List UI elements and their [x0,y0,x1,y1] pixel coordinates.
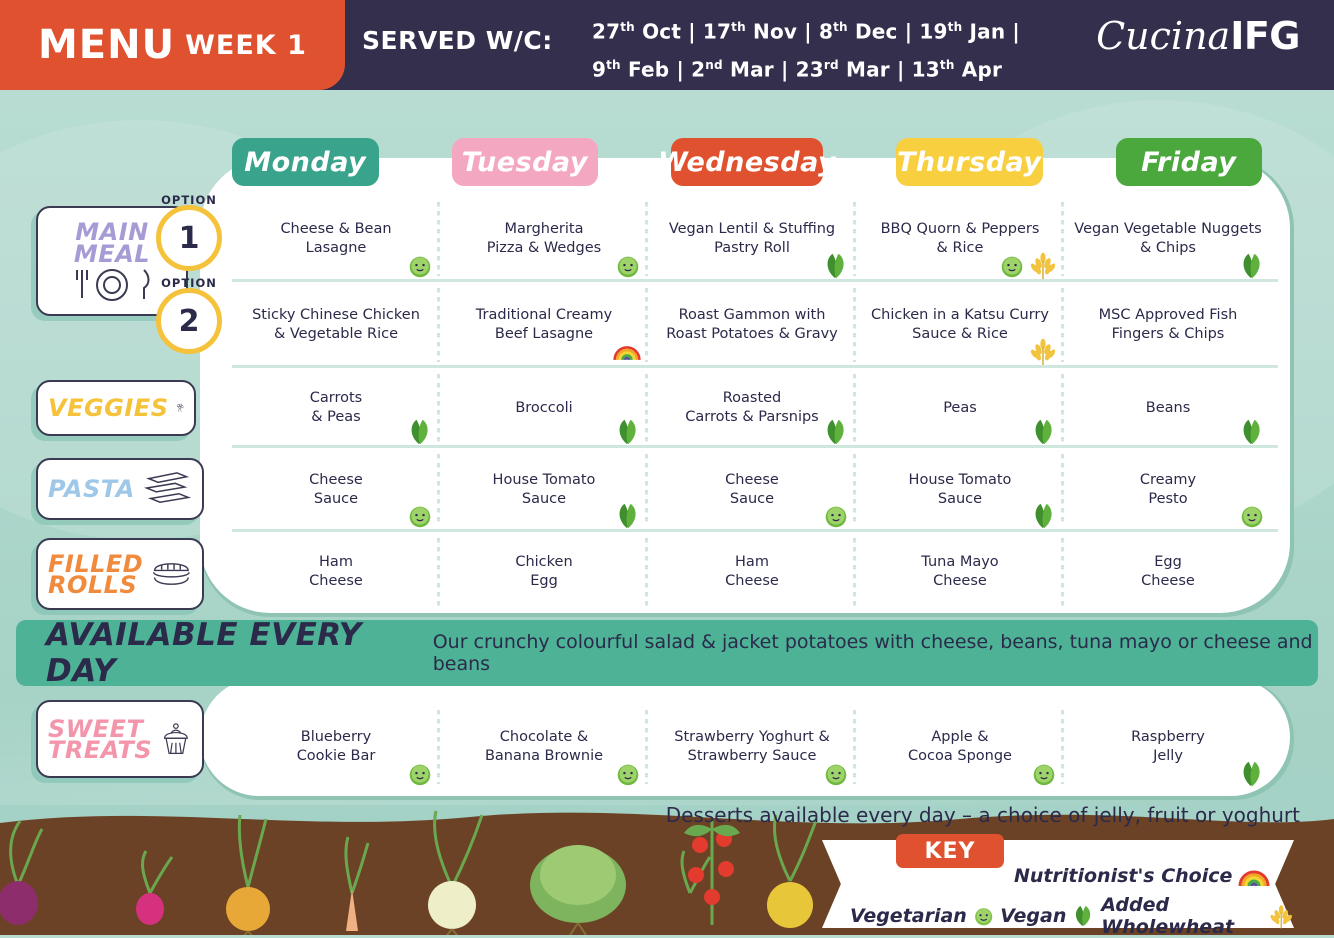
menu-cell: Sticky Chinese Chicken & Vegetable Rice [232,282,440,368]
vegetarian-icon [822,760,850,788]
diet-icons [1030,760,1058,788]
menu-item-text: Tuna Mayo Cheese [921,553,998,591]
menu-cell: Cheese Sauce [232,448,440,532]
menu-cell: Traditional Creamy Beef Lasagne [440,282,648,368]
rainbow-icon [612,336,642,366]
day-header-row: MondayTuesdayWednesdayThursdayFriday [232,138,1262,186]
menu-cell: Beans [1064,368,1272,448]
menu-item-text: Beans [1146,399,1191,418]
option-2-badge: OPTION 2 [156,288,222,354]
menu-cell: BBQ Quorn & Peppers & Rice [856,196,1064,282]
row-label-main-meal-line2: MEAL [74,242,150,266]
menu-word: MENU [38,22,175,68]
available-every-day-title: AVAILABLE EVERY DAY [46,620,419,686]
menu-cell: Vegan Vegetable Nuggets & Chips [1064,196,1272,282]
wheat-icon [1028,336,1058,366]
menu-item-text: Vegan Vegetable Nuggets & Chips [1074,220,1261,258]
week-word: WEEK 1 [185,30,307,61]
vegan-leaf-icon [1030,502,1058,530]
diet-icons [1030,502,1058,530]
menu-item-text: Cheese Sauce [309,471,363,509]
menu-item-text: Apple & Cocoa Sponge [908,728,1012,766]
vegetarian-icon [406,502,434,530]
menu-item-text: Chicken in a Katsu Curry Sauce & Rice [871,306,1049,344]
brand-logo: CucinaIFG [1096,14,1300,58]
diet-icons [822,418,850,446]
menu-item-text: Vegan Lentil & Stuffing Pastry Roll [669,220,835,258]
diet-icons [612,336,642,366]
vegan-leaf-icon [822,252,850,280]
served-label: SERVED W/C: [362,26,553,55]
key-button: KEY [896,834,1004,868]
day-header-monday: Monday [232,138,379,186]
menu-item-text: Sticky Chinese Chicken & Vegetable Rice [252,306,420,344]
vegan-leaf-icon [1238,418,1266,446]
day-header-tuesday: Tuesday [452,138,599,186]
row-label-rolls-line2: ROLLS [48,573,143,597]
available-every-day-text: Our crunchy colourful salad & jacket pot… [433,631,1318,675]
row-label-veggies-text: VEGGIES [48,396,168,420]
diet-icons [406,252,434,280]
vegetarian-icon [406,760,434,788]
key-item-nutritionist: Nutritionist's Choice [1014,864,1271,888]
diet-icons [1030,418,1058,446]
menu-cell: Chocolate & Banana Brownie [440,704,648,790]
menu-item-text: Cheese Sauce [725,471,779,509]
diet-icons [1028,336,1058,366]
available-every-day-banner: AVAILABLE EVERY DAY Our crunchy colourfu… [16,620,1318,686]
vegetarian-icon [1030,760,1058,788]
menu-item-text: Carrots & Peas [310,389,362,427]
day-header-wednesday: Wednesday [671,138,823,186]
menu-row-pasta: Cheese SauceHouse Tomato SauceCheese Sau… [232,448,1272,532]
diet-icons [614,502,642,530]
diet-icons [822,760,850,788]
row-label-pasta: PASTA [36,458,204,520]
menu-item-text: Roast Gammon with Roast Potatoes & Gravy [666,306,838,344]
row-label-veggies: VEGGIES [36,380,196,436]
diet-icons [822,252,850,280]
broccoli-icon [176,391,184,425]
diet-icons [1238,418,1266,446]
diet-icons [1238,760,1266,788]
key-label-wholewheat: Added Wholewheat [1101,894,1262,938]
menu-cell: Carrots & Peas [232,368,440,448]
menu-item-text: House Tomato Sauce [909,471,1012,509]
menu-item-text: Margherita Pizza & Wedges [487,220,601,258]
desserts-note: Desserts available every day – a choice … [666,803,1300,827]
vegan-leaf-icon [1238,760,1266,788]
cupcake-icon [160,716,192,762]
brand-name-bold: IFG [1230,14,1300,58]
vegan-leaf-icon [614,502,642,530]
menu-cell: Cheese Sauce [648,448,856,532]
key-label-nutritionist: Nutritionist's Choice [1014,865,1232,887]
served-dates-line2: 9th Feb | 2nd Mar | 23rd Mar | 13th Apr [592,49,1052,87]
option-1-word: OPTION [155,193,223,207]
menu-cell: Chicken in a Katsu Curry Sauce & Rice [856,282,1064,368]
menu-cell: Peas [856,368,1064,448]
menu-cell: Roasted Carrots & Parsnips [648,368,856,448]
menu-item-text: Strawberry Yoghurt & Strawberry Sauce [674,728,830,766]
menu-item-text: Raspberry Jelly [1131,728,1205,766]
menu-cell: Apple & Cocoa Sponge [856,704,1064,790]
diet-icons [998,250,1058,280]
vegetarian-icon [614,252,642,280]
diet-icons [614,252,642,280]
cutlery-plate-icon [60,268,164,302]
wheat-icon [1028,250,1058,280]
menu-cell: Egg Cheese [1064,532,1272,612]
menu-item-text: Roasted Carrots & Parsnips [685,389,818,427]
menu-item-text: Blueberry Cookie Bar [297,728,376,766]
header-bar: MENU WEEK 1 SERVED W/C: 27th Oct | 17th … [0,0,1334,90]
menu-grid: Cheese & Bean LasagneMargherita Pizza & … [232,196,1272,612]
diet-icons [406,760,434,788]
wheat-icon [1268,900,1294,932]
vegan-leaf-icon [406,418,434,446]
menu-item-text: Chocolate & Banana Brownie [485,728,603,766]
menu-item-text: House Tomato Sauce [493,471,596,509]
vegan-leaf-icon [1238,252,1266,280]
menu-cell: Vegan Lentil & Stuffing Pastry Roll [648,196,856,282]
menu-row-sweet-treats: Blueberry Cookie BarChocolate & Banana B… [232,704,1272,790]
menu-cell: House Tomato Sauce [856,448,1064,532]
menu-cell: MSC Approved Fish Fingers & Chips [1064,282,1272,368]
menu-page: MENU WEEK 1 SERVED W/C: 27th Oct | 17th … [0,0,1334,935]
menu-row-veggies: Carrots & PeasBroccoliRoasted Carrots & … [232,368,1272,448]
served-dates: 27th Oct | 17th Nov | 8th Dec | 19th Jan… [592,11,1052,86]
menu-cell: Creamy Pesto [1064,448,1272,532]
option-2-number: 2 [179,304,200,339]
menu-item-text: Ham Cheese [725,553,779,591]
option-1-badge: OPTION 1 [156,205,222,271]
row-label-sweet-treats: SWEET TREATS [36,700,204,778]
menu-cell: Chicken Egg [440,532,648,612]
diet-icons [406,502,434,530]
vegetarian-icon [406,252,434,280]
row-label-filled-rolls: FILLED ROLLS [36,538,204,610]
rainbow-icon [1237,864,1271,888]
option-2-word: OPTION [155,276,223,290]
vegan-leaf-icon [1071,901,1096,931]
row-label-pasta-text: PASTA [48,477,135,501]
option-1-number: 1 [179,221,200,256]
vegan-leaf-icon [1030,418,1058,446]
vegetarian-icon [1238,502,1266,530]
vegetarian-icon [998,252,1026,280]
menu-title-tab: MENU WEEK 1 [0,0,345,90]
menu-item-text: Creamy Pesto [1140,471,1196,509]
brand-name-italic: Cucina [1096,14,1230,58]
vegetarian-icon [614,760,642,788]
menu-row-option-1: Cheese & Bean LasagneMargherita Pizza & … [232,196,1272,282]
menu-item-text: MSC Approved Fish Fingers & Chips [1099,306,1238,344]
menu-item-text: Peas [943,399,977,418]
diet-icons [406,418,434,446]
row-label-sweet-line2: TREATS [48,738,152,762]
diet-icons [614,760,642,788]
menu-cell: Ham Cheese [648,532,856,612]
menu-cell: Broccoli [440,368,648,448]
menu-item-text: Chicken Egg [515,553,572,591]
penne-pasta-icon [143,470,192,508]
key-legend: KEY Nutritionist's Choice Vegetarian [822,840,1294,928]
menu-row-option-2: Sticky Chinese Chicken & Vegetable RiceT… [232,282,1272,368]
menu-cell: House Tomato Sauce [440,448,648,532]
day-header-friday: Friday [1116,138,1263,186]
menu-item-text: Broccoli [515,399,572,418]
menu-row-filled-rolls: Ham CheeseChicken EggHam CheeseTuna Mayo… [232,532,1272,612]
menu-cell: Strawberry Yoghurt & Strawberry Sauce [648,704,856,790]
vegetarian-icon [822,502,850,530]
diet-icons [1238,502,1266,530]
vegan-leaf-icon [822,418,850,446]
menu-cell: Tuna Mayo Cheese [856,532,1064,612]
day-header-thursday: Thursday [896,138,1043,186]
vegan-leaf-icon [614,418,642,446]
sweet-treats-grid: Blueberry Cookie BarChocolate & Banana B… [232,704,1272,790]
menu-item-text: Cheese & Bean Lasagne [280,220,391,258]
filled-roll-icon [151,554,192,594]
menu-cell: Blueberry Cookie Bar [232,704,440,790]
menu-cell: Ham Cheese [232,532,440,612]
menu-item-text: Ham Cheese [309,553,363,591]
menu-item-text: Egg Cheese [1141,553,1195,591]
key-items-row: Vegetarian Vegan Added Wholewheat [850,894,1294,938]
menu-cell: Raspberry Jelly [1064,704,1272,790]
menu-cell: Margherita Pizza & Wedges [440,196,648,282]
served-dates-line1: 27th Oct | 17th Nov | 8th Dec | 19th Jan… [592,11,1052,49]
menu-cell: Cheese & Bean Lasagne [232,196,440,282]
key-label-vegan: Vegan [1000,905,1066,927]
diet-icons [614,418,642,446]
menu-cell: Roast Gammon with Roast Potatoes & Gravy [648,282,856,368]
menu-item-text: Traditional Creamy Beef Lasagne [476,306,612,344]
diet-icons [822,502,850,530]
diet-icons [1238,252,1266,280]
vegetarian-icon [972,901,995,931]
key-label-vegetarian: Vegetarian [850,905,967,927]
